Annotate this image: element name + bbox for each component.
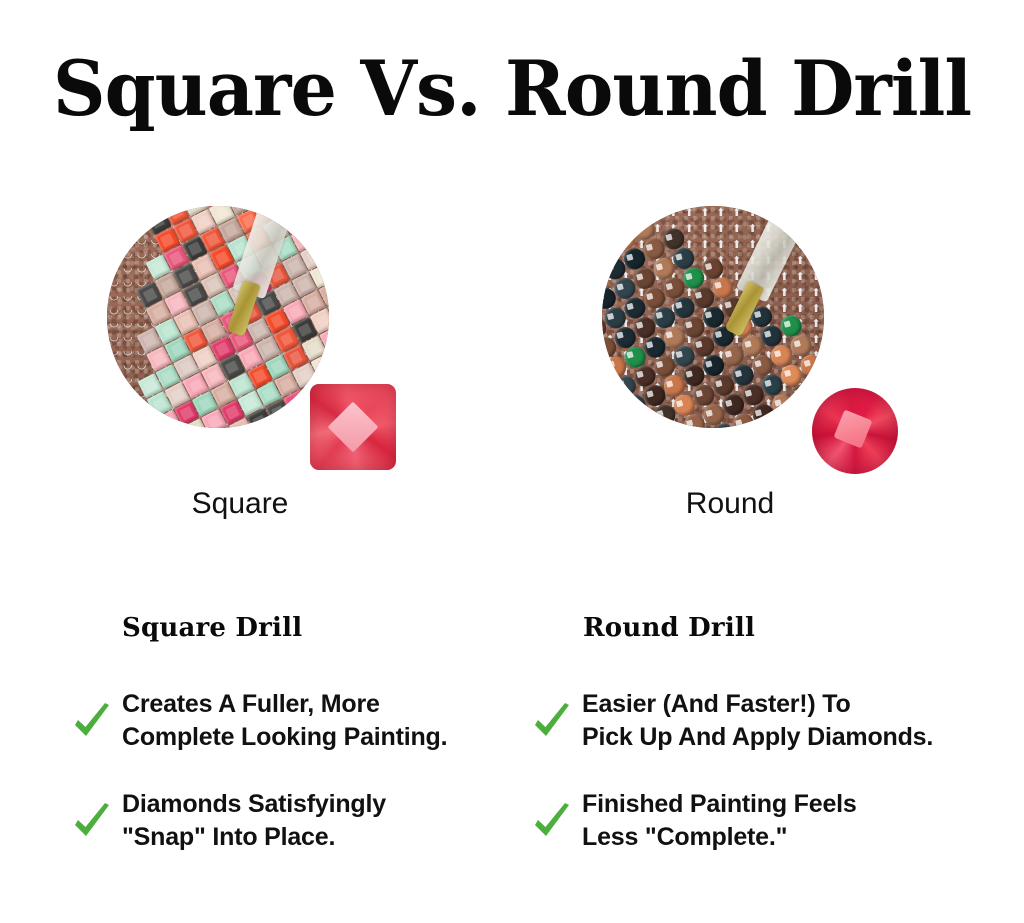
square-drill-mosaic (107, 206, 329, 428)
round-photo-caption: Round (565, 485, 895, 523)
square-photo-block: ◡◡◡◡◡◡◡◡◡◡◡◡◡◡◡◡◡◡◡◡◡◡◡◡◡◡◡◡◡◡◡◡◡◡◡◡◡◡◡◡… (95, 198, 425, 483)
square-drill-benefits: Creates A Fuller, More Complete Looking … (70, 688, 540, 888)
round-drill-heading: Round Drill (583, 612, 755, 644)
square-drill-canvas-photo: ◡◡◡◡◡◡◡◡◡◡◡◡◡◡◡◡◡◡◡◡◡◡◡◡◡◡◡◡◡◡◡◡◡◡◡◡◡◡◡◡… (107, 206, 329, 428)
benefit-text: Creates A Fuller, More Complete Looking … (122, 688, 540, 754)
check-icon (532, 702, 572, 744)
round-photo-block: ⬆⬆⬆⬆⬆⬆⬆⬆⬆⬆⬆⬆⬆⬆⬆⬆⬆⬆⬆⬆⬆⬆⬆⬆⬆⬆⬆⬆⬆⬆⬆⬆⬆⬆⬆⬆⬆⬆⬆⬆… (590, 198, 920, 483)
list-item: Creates A Fuller, More Complete Looking … (70, 688, 540, 762)
list-item: Diamonds Satisfyingly "Snap" Into Place. (70, 788, 540, 862)
square-drill-heading: Square Drill (122, 612, 302, 644)
check-icon (72, 802, 112, 844)
square-photo-caption: Square (75, 485, 405, 523)
list-item: Finished Painting Feels Less "Complete." (530, 788, 1000, 862)
square-gem-sample (310, 384, 396, 470)
round-drill-canvas-photo: ⬆⬆⬆⬆⬆⬆⬆⬆⬆⬆⬆⬆⬆⬆⬆⬆⬆⬆⬆⬆⬆⬆⬆⬆⬆⬆⬆⬆⬆⬆⬆⬆⬆⬆⬆⬆⬆⬆⬆⬆… (602, 206, 824, 428)
benefit-text: Easier (And Faster!) To Pick Up And Appl… (582, 688, 1000, 754)
check-icon (532, 802, 572, 844)
benefit-text: Finished Painting Feels Less "Complete." (582, 788, 1000, 854)
round-gem-sample (812, 388, 898, 474)
check-icon (72, 702, 112, 744)
benefit-text: Diamonds Satisfyingly "Snap" Into Place. (122, 788, 540, 854)
page-title: Square Vs. Round Drill (20, 46, 1003, 132)
round-drill-benefits: Easier (And Faster!) To Pick Up And Appl… (530, 688, 1000, 888)
list-item: Easier (And Faster!) To Pick Up And Appl… (530, 688, 1000, 762)
